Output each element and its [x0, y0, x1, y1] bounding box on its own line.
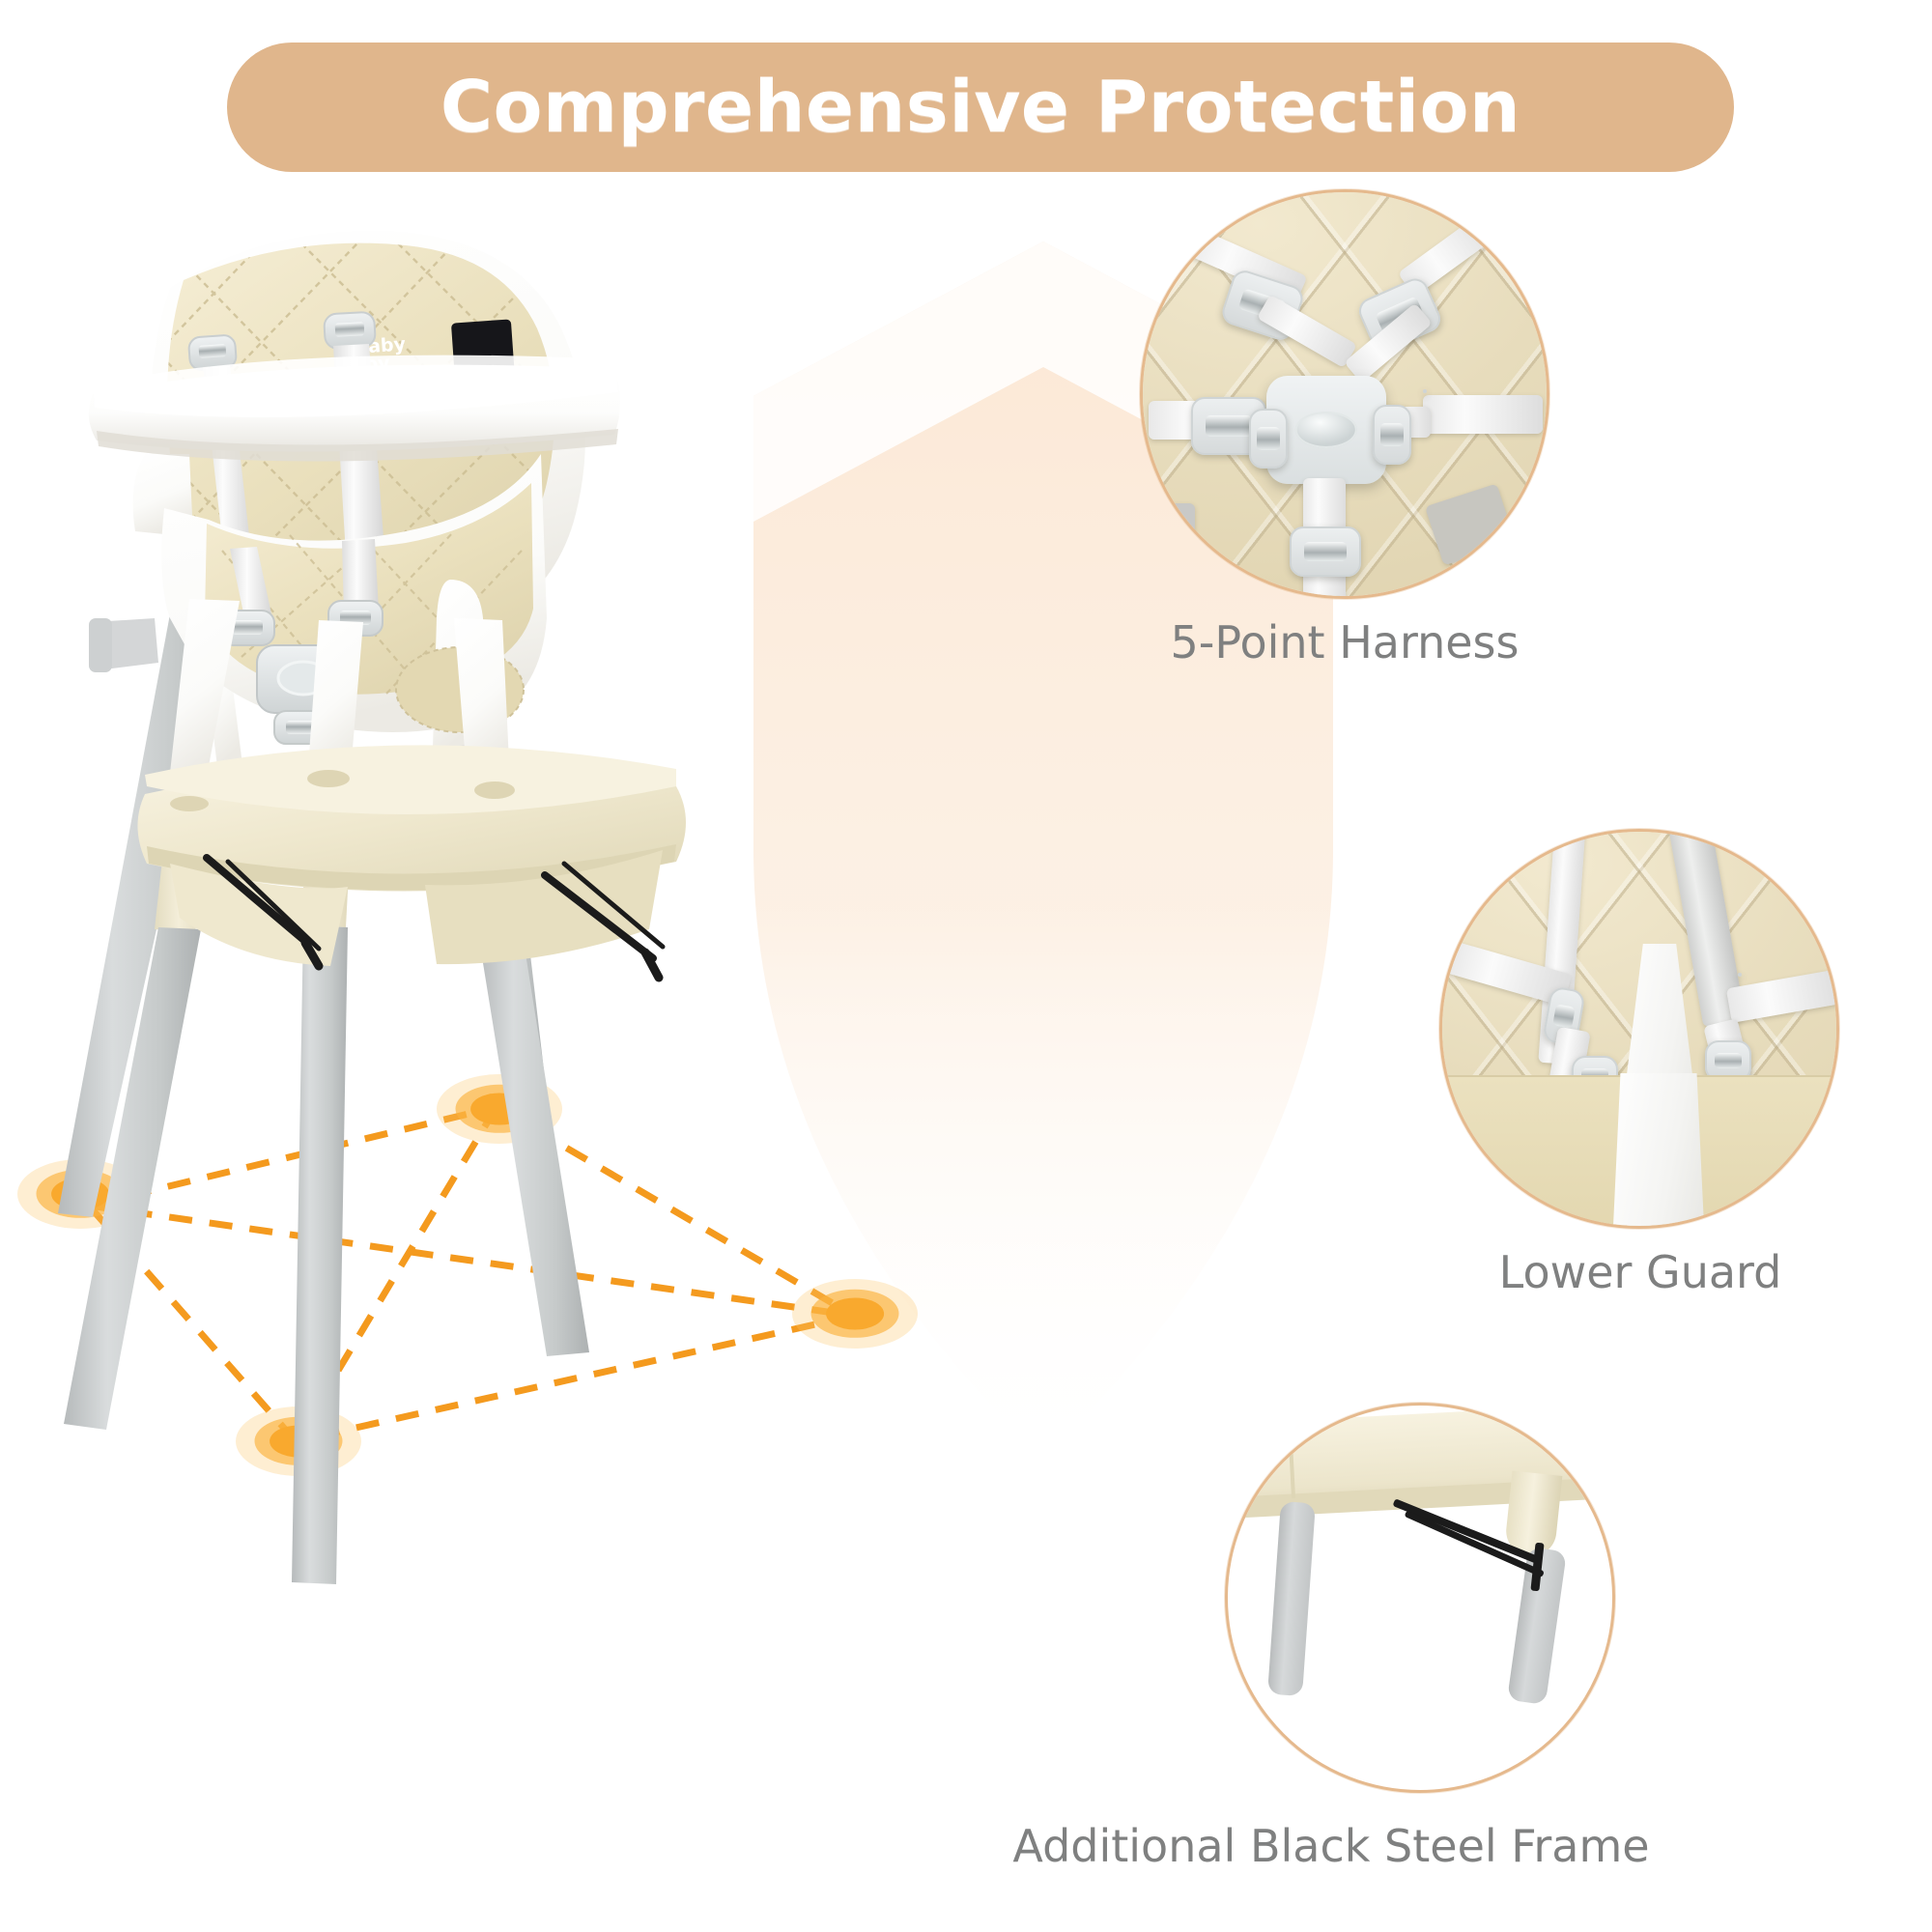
buckle-crotch [1290, 526, 1361, 577]
callout-lower-guard: Lower Guard [1439, 829, 1932, 1283]
callout-steel-frame-label: Additional Black Steel Frame [781, 1820, 1882, 1872]
lower-guard-detail-photo [1439, 829, 1839, 1229]
buckle-right [1738, 973, 1742, 977]
buckle-center-left [1249, 409, 1288, 469]
screenshot-canvas: Comprehensive Protection [0, 0, 1932, 1932]
callout-harness: 5-Point Harness [1140, 189, 1739, 653]
chair-front-legs [60, 599, 589, 1584]
strap-grey-bottom-left [1152, 503, 1195, 548]
callout-lower-guard-label: Lower Guard [1349, 1246, 1932, 1298]
page-title: Comprehensive Protection [440, 66, 1520, 149]
leg-left [1267, 1501, 1316, 1696]
harness-detail-photo [1140, 189, 1549, 599]
chair-footrest-platform [137, 745, 686, 966]
buckle-center-right [1373, 405, 1411, 465]
callout-steel-frame: Additional Black Steel Frame [1225, 1403, 1882, 1905]
strap-waist-right [1423, 395, 1543, 434]
lower-guard-post-lower [1608, 1073, 1709, 1229]
page-header-banner: Comprehensive Protection [227, 43, 1734, 172]
steel-frame-detail-photo [1225, 1403, 1615, 1793]
buckle-waist-right [1423, 389, 1427, 393]
product-photo-high-chair: baby joy [0, 164, 1063, 1932]
callout-harness-label: 5-Point Harness [1043, 616, 1646, 668]
